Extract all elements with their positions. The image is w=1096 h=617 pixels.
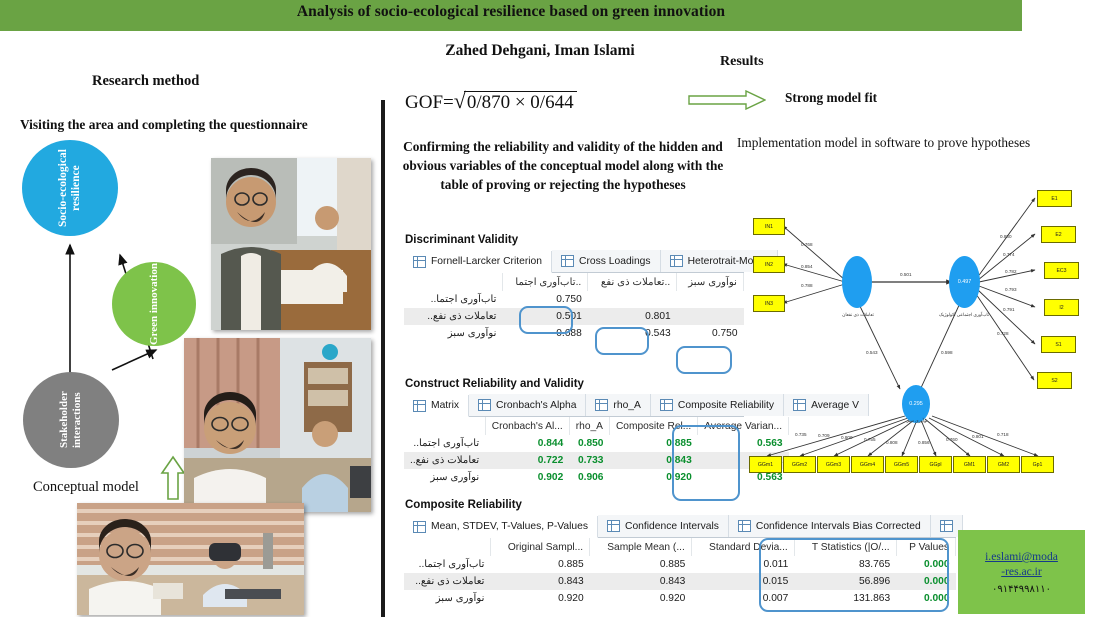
gof-formula: GOF=√0/870 × 0/644 xyxy=(405,88,675,114)
cell: 0.015 xyxy=(691,573,794,590)
indicator-label: EC3 xyxy=(1056,268,1066,274)
row-label: تعاملات ذی نفع.. xyxy=(404,573,491,590)
table-row: تعاملات ذی نفع.. 0.843 0.843 0.015 56.89… xyxy=(404,573,956,590)
loading-ggm3: 0.800 xyxy=(841,435,853,440)
tab-label: Confidence Intervals Bias Corrected xyxy=(756,521,921,532)
tab-label: rho_A xyxy=(613,400,640,411)
cell: 0.750 xyxy=(677,325,744,342)
table-icon xyxy=(413,400,426,412)
indicator-label: IN3 xyxy=(765,301,773,307)
conceptual-model-label: Conceptual model xyxy=(33,479,139,496)
university-logo: Tarbiat Modares University xyxy=(1022,0,1096,68)
indicator-label: GM2 xyxy=(998,462,1009,468)
cell: 0.843 xyxy=(491,573,590,590)
col-empty xyxy=(404,273,503,291)
indicator-label: GGm2 xyxy=(792,462,807,468)
tab-mean-stdev[interactable]: Mean, STDEV, T-Values, P-Values xyxy=(404,516,598,538)
composite-reliability-section: Composite Reliability Mean, STDEV, T-Val… xyxy=(404,499,956,607)
indicator-label: IN1 xyxy=(765,224,773,230)
confirm-text: Confirming the reliability and validity … xyxy=(398,137,728,194)
tab-label: Cronbach's Alpha xyxy=(496,400,576,411)
latent-resilience: 0.497 xyxy=(949,256,980,308)
construct-tabs[interactable]: Matrix Cronbach's Alpha rho_A Composite … xyxy=(404,394,744,417)
cell: 0.885 xyxy=(491,556,590,573)
path-coefficient-main: 0.501 xyxy=(900,272,912,277)
field-photo-3 xyxy=(77,503,304,615)
tab-label: Mean, STDEV, T-Values, P-Values xyxy=(431,521,588,532)
node-socio-label: Socio-ecological resilience xyxy=(57,140,83,236)
cell: 0.543 xyxy=(588,325,677,342)
row-label: نوآوری سبز xyxy=(404,325,503,342)
indicator-ggm5: GGm5 xyxy=(885,456,918,473)
construct-table: Cronbach's Al... rho_A Composite Rel... … xyxy=(404,417,789,486)
cell: 83.765 xyxy=(794,556,896,573)
indicator-ggm2: GGm2 xyxy=(783,456,816,473)
indicator-label: GGm5 xyxy=(894,462,909,468)
row-label: تاب‌آوری اجتما.. xyxy=(404,556,491,573)
cell: 0.885 xyxy=(590,556,692,573)
page-title: Analysis of socio-ecological resilience … xyxy=(0,3,1022,21)
field-photo-1 xyxy=(211,158,371,330)
cell xyxy=(677,291,744,308)
loading-e2: 0.774 xyxy=(1003,252,1015,257)
tab-cross-loadings[interactable]: Cross Loadings xyxy=(552,250,661,272)
row-label: تاب‌آوری اجتما.. xyxy=(404,291,503,308)
col-green: نوآوری سبز xyxy=(677,273,744,291)
col-empty xyxy=(404,538,491,556)
gof-expression: 0/870 × 0/644 xyxy=(464,91,577,114)
loading-s2: 0.728 xyxy=(997,331,1009,336)
table-icon xyxy=(940,520,953,532)
tab-label: Confidence Intervals xyxy=(625,521,719,532)
cell: 0.000 xyxy=(896,590,955,607)
col-composite: Composite Rel... xyxy=(609,417,697,435)
cell: 0.906 xyxy=(569,469,609,486)
composite-table: Original Sampl... Sample Mean (... Stand… xyxy=(404,538,956,607)
table-row: نوآوری سبز 0.920 0.920 0.007 131.863 0.0… xyxy=(404,590,956,607)
cell: 56.896 xyxy=(794,573,896,590)
col-original-sample: Original Sampl... xyxy=(491,538,590,556)
loading-e1: 0.880 xyxy=(1000,234,1012,239)
path-coefficient-left-bottom: 0.543 xyxy=(866,350,878,355)
table-header-row: Cronbach's Al... rho_A Composite Rel... … xyxy=(404,417,789,435)
cell: 0.000 xyxy=(896,573,955,590)
node-socio-ecological-resilience: Socio-ecological resilience xyxy=(22,140,118,236)
node-stake-label: Stakeholder interactions xyxy=(58,372,84,468)
discriminant-title: Discriminant Validity xyxy=(405,234,744,246)
indicator-label: GGm1 xyxy=(758,462,773,468)
up-arrow-icon xyxy=(160,455,186,501)
indicator-ggm1: GGm1 xyxy=(749,456,782,473)
tab-label: Cross Loadings xyxy=(579,256,651,267)
table-row: نوآوری سبز 0.688 0.543 0.750 xyxy=(404,325,744,342)
loading-ggm2: 0.709 xyxy=(818,433,830,438)
strong-model-fit-label: Strong model fit xyxy=(785,90,877,106)
email-line-1: i.eslami@moda xyxy=(985,550,1058,563)
cell: 0.885 xyxy=(609,435,697,452)
col-empty xyxy=(404,417,485,435)
table-icon xyxy=(738,520,751,532)
path-coefficient-right-bottom: 0.598 xyxy=(941,350,953,355)
tab-fornell-larcker[interactable]: Fornell-Larcker Criterion xyxy=(404,251,552,273)
cell: 0.844 xyxy=(485,435,569,452)
indicator-label: GM1 xyxy=(964,462,975,468)
chart-icon xyxy=(595,399,608,411)
loading-in1: 0.768 xyxy=(801,242,813,247)
loading-in3: 0.788 xyxy=(801,283,813,288)
latent-green-label: نوآوری سبز xyxy=(895,418,939,423)
cell: 0.843 xyxy=(609,452,697,469)
cell: 0.011 xyxy=(691,556,794,573)
indicator-gp1: Gp1 xyxy=(1021,456,1054,473)
loading-gm2: 0.801 xyxy=(972,434,984,439)
indicator-ec3: EC3 xyxy=(1044,262,1079,279)
tab-cronbachs-alpha[interactable]: Cronbach's Alpha xyxy=(469,394,586,416)
cell xyxy=(588,291,677,308)
cell: 0.801 xyxy=(588,308,677,325)
col-t-statistics: T Statistics (|O/... xyxy=(794,538,896,556)
indicator-ggm4: GGm4 xyxy=(851,456,884,473)
table-header-row: Original Sampl... Sample Mean (... Stand… xyxy=(404,538,956,556)
composite-title: Composite Reliability xyxy=(405,499,956,511)
latent-resilience-label: تاب‌آوری اجتماعی اکولوژیک xyxy=(933,312,995,317)
indicator-e1: E1 xyxy=(1037,190,1072,207)
loading-gm1: 0.760 xyxy=(946,437,958,442)
indicator-in3: IN3 xyxy=(753,295,785,312)
highlight-diag-3 xyxy=(676,346,732,374)
loading-gp1: 0.718 xyxy=(997,432,1009,437)
cell: 0.750 xyxy=(503,291,588,308)
table-header-row: تاب‌آوری اجتما.. تعاملات ذی نفع.. نوآوری… xyxy=(404,273,744,291)
node-green-label: Green innovation xyxy=(148,263,161,345)
indicator-label: E1 xyxy=(1051,196,1057,202)
col-cronbach: Cronbach's Al... xyxy=(485,417,569,435)
loading-ggpl: 0.856 xyxy=(918,440,930,445)
chart-icon xyxy=(478,399,491,411)
implementation-label: Implementation model in software to prov… xyxy=(737,135,1030,151)
indicator-ggm3: GGm3 xyxy=(817,456,850,473)
cell: 0.733 xyxy=(569,452,609,469)
indicator-ggpl: GGpl xyxy=(919,456,952,473)
table-row: تاب‌آوری اجتما.. 0.885 0.885 0.011 83.76… xyxy=(404,556,956,573)
node-green-innovation: Green innovation xyxy=(112,262,196,346)
contact-box: i.eslami@moda -res.ac.ir ۰۹۱۴۴۹۹۸۱۱۰ xyxy=(958,530,1085,614)
indicator-gm2: GM2 xyxy=(987,456,1020,473)
col-standard-deviation: Standard Devia... xyxy=(691,538,794,556)
tab-label: Matrix xyxy=(431,400,459,411)
construct-title: Construct Reliability and Validity xyxy=(405,378,744,390)
loading-ggm5: 0.808 xyxy=(886,440,898,445)
green-right-arrow-icon xyxy=(688,90,766,110)
cell: 0.902 xyxy=(485,469,569,486)
poster-canvas: Analysis of socio-ecological resilience … xyxy=(0,0,1096,617)
discriminant-tabs[interactable]: Fornell-Larcker Criterion Cross Loadings… xyxy=(404,250,744,273)
table-icon xyxy=(607,520,620,532)
composite-tabs[interactable]: Mean, STDEV, T-Values, P-Values Confiden… xyxy=(404,515,956,538)
indicator-label: S1 xyxy=(1055,342,1061,348)
row-label: نوآوری سبز xyxy=(404,469,485,486)
contact-email[interactable]: i.eslami@moda -res.ac.ir xyxy=(985,549,1058,579)
indicator-in1: IN1 xyxy=(753,218,785,235)
tab-confidence-bias-corrected[interactable]: Confidence Intervals Bias Corrected xyxy=(729,515,931,537)
table-row: تعاملات ذی نفع.. 0.501 0.801 xyxy=(404,308,744,325)
loading-ec3: 0.782 xyxy=(1005,269,1017,274)
loading-ggm4: 0.755 xyxy=(864,437,876,442)
column-divider xyxy=(381,100,385,617)
row-label: تاب‌آوری اجتما.. xyxy=(404,435,485,452)
indicator-label: IN2 xyxy=(765,262,773,268)
col-stakeholder: تعاملات ذی نفع.. xyxy=(588,273,677,291)
table-row: تعاملات ذی نفع.. 0.722 0.733 0.843 0.642 xyxy=(404,452,789,469)
construct-reliability-section: Construct Reliability and Validity Matri… xyxy=(404,378,744,486)
table-icon xyxy=(413,521,426,533)
indicator-label: I2 xyxy=(1059,305,1063,311)
gof-prefix: GOF= xyxy=(405,92,454,113)
loading-ggm1: 0.735 xyxy=(795,432,807,437)
field-photo-2 xyxy=(184,338,371,512)
tab-confidence-intervals[interactable]: Confidence Intervals xyxy=(598,515,729,537)
sem-path-diagram: IN1 IN2 IN3 0.768 0.854 0.788 تعاملات ذی… xyxy=(745,168,1096,498)
table-row: تاب‌آوری اجتما.. 0.844 0.850 0.885 0.563 xyxy=(404,435,789,452)
discriminant-validity-section: Discriminant Validity Fornell-Larcker Cr… xyxy=(404,234,744,342)
tab-label: Fornell-Larcker Criterion xyxy=(431,256,542,267)
table-row: تاب‌آوری اجتما.. 0.750 xyxy=(404,291,744,308)
cell: 0.920 xyxy=(590,590,692,607)
indicator-s1: S1 xyxy=(1041,336,1076,353)
cell: 0.722 xyxy=(485,452,569,469)
latent-stakeholder-label: تعاملات ذی نفعان xyxy=(829,312,887,317)
cell: 0.920 xyxy=(491,590,590,607)
indicator-label: S2 xyxy=(1051,378,1057,384)
research-method-label: Research method xyxy=(92,73,199,90)
indicator-e2: E2 xyxy=(1041,226,1076,243)
chart-icon xyxy=(660,399,673,411)
indicator-label: GGm3 xyxy=(826,462,841,468)
email-line-2: -res.ac.ir xyxy=(1001,565,1042,578)
cell: 0.688 xyxy=(503,325,588,342)
tab-matrix[interactable]: Matrix xyxy=(404,395,469,417)
row-label: نوآوری سبز xyxy=(404,590,491,607)
row-label: تعاملات ذی نفع.. xyxy=(404,452,485,469)
cell: 0.501 xyxy=(503,308,588,325)
discriminant-table: تاب‌آوری اجتما.. تعاملات ذی نفع.. نوآوری… xyxy=(404,273,744,342)
cell: 131.863 xyxy=(794,590,896,607)
authors: Zahed Dehgani, Iman Islami xyxy=(395,42,685,60)
table-icon xyxy=(670,255,683,267)
loading-in2: 0.854 xyxy=(801,264,813,269)
latent-value: 0.497 xyxy=(958,279,972,285)
table-icon xyxy=(413,256,426,268)
contact-phone: ۰۹۱۴۴۹۹۸۱۱۰ xyxy=(992,584,1051,595)
cell: 0.920 xyxy=(609,469,697,486)
indicator-label: Gp1 xyxy=(1033,462,1043,468)
col-resilience: تاب‌آوری اجتما.. xyxy=(503,273,588,291)
loading-s1: 0.791 xyxy=(1003,307,1015,312)
cell: 0.007 xyxy=(691,590,794,607)
sem-edges xyxy=(745,168,1096,498)
cell: 0.843 xyxy=(590,573,692,590)
latent-value: 0.295 xyxy=(909,401,923,407)
latent-stakeholder xyxy=(842,256,872,308)
results-section-label: Results xyxy=(720,54,764,70)
indicator-i2: I2 xyxy=(1044,299,1079,316)
cell: 0.850 xyxy=(569,435,609,452)
indicator-label: GGpl xyxy=(929,462,941,468)
tab-rho-a[interactable]: rho_A xyxy=(586,394,650,416)
node-stakeholder-interactions: Stakeholder interactions xyxy=(23,372,119,468)
cell: 0.000 xyxy=(896,556,955,573)
table-row: نوآوری سبز 0.902 0.906 0.920 0.563 xyxy=(404,469,789,486)
col-sample-mean: Sample Mean (... xyxy=(590,538,692,556)
indicator-s2: S2 xyxy=(1037,372,1072,389)
col-rho-a: rho_A xyxy=(569,417,609,435)
table-icon xyxy=(561,255,574,267)
cell xyxy=(677,308,744,325)
indicator-label: GGm4 xyxy=(860,462,875,468)
loading-i2: 0.793 xyxy=(1005,287,1017,292)
indicator-gm1: GM1 xyxy=(953,456,986,473)
col-p-values: P Values xyxy=(896,538,955,556)
indicator-in2: IN2 xyxy=(753,256,785,273)
indicator-label: E2 xyxy=(1055,232,1061,238)
row-label: تعاملات ذی نفع.. xyxy=(404,308,503,325)
